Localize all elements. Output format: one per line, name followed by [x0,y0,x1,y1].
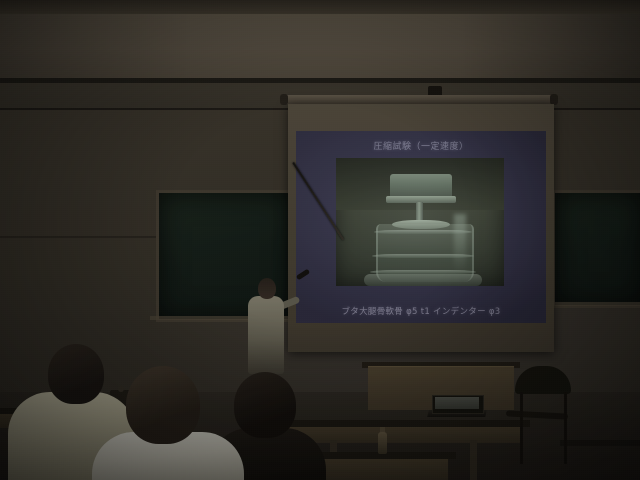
bottle [378,432,387,454]
screen-roller-housing[interactable] [284,95,554,104]
ceiling-edge-strip [0,0,640,14]
slide-title: 圧縮試験（一定速度） [296,139,546,152]
chalkboard-right [552,190,640,308]
chair-leg-right [564,392,567,464]
desk-top-rear [280,420,530,427]
slide-photo-compression-rig [336,158,504,286]
chalk-tray-right [550,302,640,306]
ceiling-panel [0,14,640,78]
presenter-body [248,296,284,374]
chair-leg-left [520,392,523,464]
audience-member-left-head [48,344,104,404]
screen-roller-cap-left [280,94,288,105]
presenter-head [258,278,276,299]
audience-member-right-head [234,372,296,438]
laptop-screen[interactable] [435,397,479,409]
chamber-base [364,274,482,286]
lecture-hall-scene: 圧縮試験（一定速度） ブタ大腿骨軟骨 φ5 t1 インデンター φ3 [0,0,640,480]
desk-rear [286,427,522,443]
baseboard [560,440,640,446]
audience-member-center-head [126,366,200,444]
equipment-knob-1 [118,386,124,392]
chamber-highlight [454,214,466,274]
slide-caption: ブタ大腿骨軟骨 φ5 t1 インデンター φ3 [296,305,546,317]
desk-leg-b [470,440,477,480]
